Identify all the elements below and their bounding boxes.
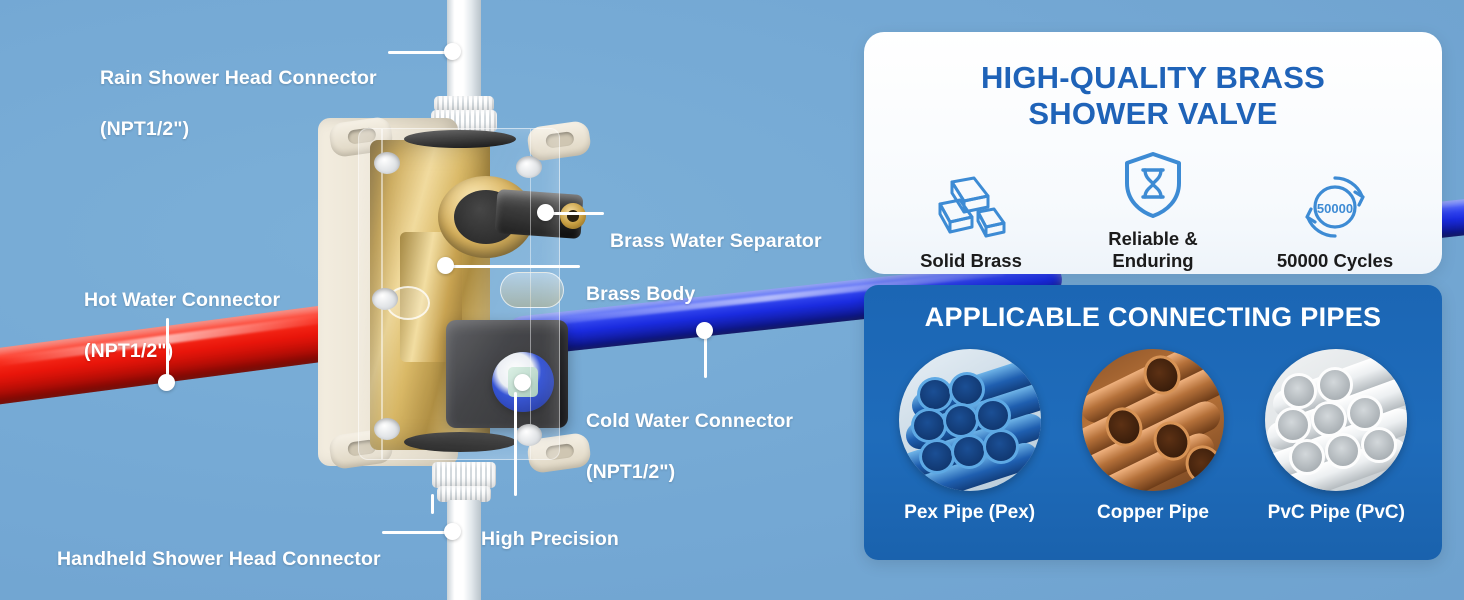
pipe-option-copper: Copper Pipe [1065, 349, 1241, 524]
callout-hot-water-connector: Hot Water Connector (NPT1/2") [84, 262, 280, 391]
leader-dot-separator [537, 204, 554, 221]
cycle-arrows-icon: 50000 [1248, 170, 1423, 244]
pipe-label: Copper Pipe [1065, 502, 1241, 524]
leader-dot-cold-water [696, 322, 713, 339]
feature-solid-brass: Solid Brass [884, 170, 1059, 272]
leader-line-hot-water [166, 318, 169, 380]
leader-line-handheld-stub [431, 494, 434, 514]
handheld-shower-pipe [447, 500, 481, 600]
feature-label: Reliable & Enduring [1066, 228, 1241, 272]
pipe-list: Pex Pipe (Pex) Copper Pipe [864, 349, 1442, 524]
leader-line-separator [552, 212, 604, 215]
callout-rain-shower-head-connector: Rain Shower Head Connector (NPT1/2") [100, 40, 377, 169]
callout-label: Rain Shower Head Connector [100, 66, 377, 92]
brass-bars-icon [884, 170, 1059, 244]
panel-title: APPLICABLE CONNECTING PIPES [864, 285, 1442, 333]
card-title-line2: SHOWER VALVE [1028, 96, 1277, 131]
callout-sublabel: (NPT1/2") [84, 339, 280, 365]
callout-cold-water-connector: Cold Water Connector (NPT1/2") [586, 383, 793, 512]
leader-dot-rain-shower [444, 43, 461, 60]
feature-reliable-enduring: Reliable & Enduring [1066, 148, 1241, 272]
callout-brass-body: Brass Body [586, 256, 695, 333]
shield-hourglass-icon [1066, 148, 1241, 222]
infographic-stage: Rain Shower Head Connector (NPT1/2") Hot… [0, 0, 1464, 600]
pvc-pipes-photo [1265, 349, 1407, 491]
callout-handheld-shower-head-connector: Handheld Shower Head Connector (NPT1/2") [57, 521, 381, 600]
leader-line-handheld [382, 531, 450, 534]
callout-label: Hot Water Connector [84, 288, 280, 314]
separator-brass-tip [559, 202, 587, 230]
callout-label: Cold Water Connector [586, 409, 793, 435]
card-title-line1: HIGH-QUALITY BRASS [981, 60, 1325, 95]
screw-hole-top-right [516, 156, 542, 178]
cycle-count-badge: 50000 [1317, 201, 1353, 216]
leader-dot-high-precision [514, 374, 531, 391]
feature-label: Solid Brass [884, 250, 1059, 272]
callout-label: Brass Body [586, 282, 695, 308]
callout-sublabel: (NPT1/2") [100, 117, 377, 143]
feature-label: 50000 Cycles [1248, 250, 1423, 272]
connecting-pipes-panel: APPLICABLE CONNECTING PIPES [864, 285, 1442, 560]
pipe-option-pex: Pex Pipe (Pex) [882, 349, 1058, 524]
leader-line-high-precision [514, 392, 517, 496]
callout-label: Handheld Shower Head Connector [57, 547, 381, 573]
callout-high-precision: High Precision [481, 501, 619, 578]
leader-line-rain-shower [388, 51, 452, 54]
pipe-option-pvc: PvC Pipe (PvC) [1248, 349, 1424, 524]
callout-sublabel: (NPT1/2") [586, 460, 793, 486]
feature-50000-cycles: 50000 50000 Cycles [1248, 170, 1423, 272]
screw-hole-bottom-left [374, 418, 400, 440]
screw-hole-top-left [374, 152, 400, 174]
pipe-label: Pex Pipe (Pex) [882, 502, 1058, 524]
screw-hole-bottom-right [516, 424, 542, 446]
leader-dot-hot-water [158, 374, 175, 391]
leader-dot-brass-body [437, 257, 454, 274]
feature-list: Solid Brass Reliable & Enduring [864, 148, 1442, 272]
handheld-shower-collar-upper [432, 462, 496, 488]
screw-hole-middle-left [372, 288, 398, 310]
cover-test-port [500, 272, 564, 308]
card-title: HIGH-QUALITY BRASS SHOWER VALVE [864, 32, 1442, 132]
quality-card: HIGH-QUALITY BRASS SHOWER VALVE [864, 32, 1442, 274]
callout-label: Brass Water Separator [610, 229, 822, 255]
pipe-label: PvC Pipe (PvC) [1248, 502, 1424, 524]
pex-pipes-photo [899, 349, 1041, 491]
leader-line-brass-body [452, 265, 580, 268]
callout-label: High Precision [481, 527, 619, 553]
copper-pipes-photo [1082, 349, 1224, 491]
